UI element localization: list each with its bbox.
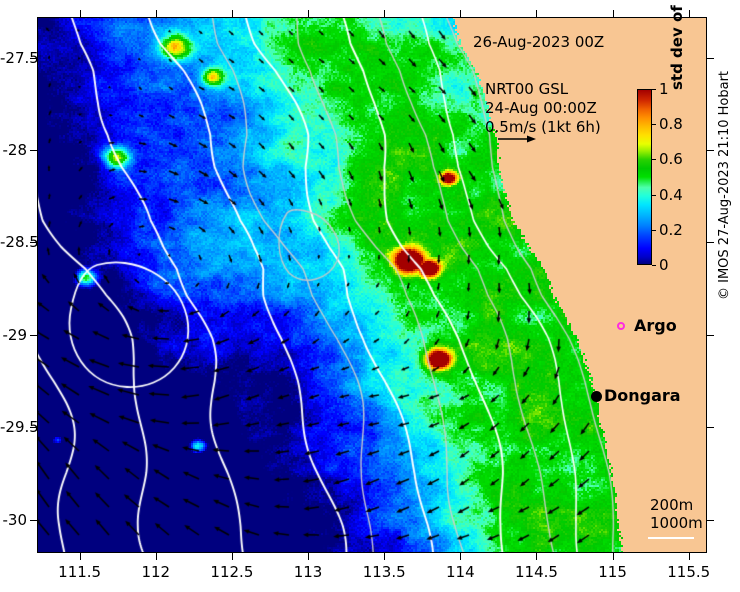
- x-tick-top: [536, 10, 537, 17]
- x-tick-top: [613, 10, 614, 17]
- x-tick: [384, 553, 385, 560]
- colorbar-tick-label: 0.6: [659, 150, 683, 168]
- y-tick: [30, 335, 37, 336]
- colorbar-tick: [652, 265, 656, 266]
- depth-contour-legend: 200m 1000m: [650, 496, 703, 532]
- dongara-marker-icon: [591, 391, 602, 402]
- x-tick: [80, 553, 81, 560]
- x-tick: [460, 553, 461, 560]
- x-tick-top: [384, 10, 385, 17]
- y-tick-label: -29.5: [0, 418, 27, 436]
- vector-legend-line1: NRT00 GSL: [485, 80, 601, 99]
- depth-legend-200m: 200m: [650, 496, 703, 514]
- colorbar-tick: [652, 195, 656, 196]
- depth-legend-contour-sample: [648, 537, 694, 539]
- colorbar-tick: [652, 159, 656, 160]
- colorbar-gradient: [637, 89, 652, 265]
- x-tick-top: [80, 10, 81, 17]
- colorbar-tick-label: 0: [659, 256, 669, 274]
- x-tick-top: [232, 10, 233, 17]
- x-tick: [308, 553, 309, 560]
- credit-text: © IMOS 27-Aug-2023 21:10 Hobart: [717, 71, 732, 300]
- argo-marker-icon: [617, 322, 625, 330]
- y-tick-label: -30: [0, 511, 27, 529]
- reference-vector-arrow-icon: [498, 133, 538, 145]
- x-tick: [689, 553, 690, 560]
- map-plot-area: [37, 17, 707, 553]
- date-stamp: 26-Aug-2023 00Z: [473, 33, 604, 51]
- y-tick: [30, 150, 37, 151]
- y-tick-label: -28.5: [0, 233, 27, 251]
- depth-legend-1000m: 1000m: [650, 514, 703, 532]
- x-tick-label: 115.5: [667, 563, 710, 581]
- vector-legend-line2: 24-Aug 00:00Z: [485, 99, 601, 118]
- x-tick-top: [156, 10, 157, 17]
- x-tick: [536, 553, 537, 560]
- colorbar-tick: [652, 230, 656, 231]
- dongara-label: Dongara: [604, 386, 681, 405]
- x-tick: [156, 553, 157, 560]
- x-tick-label: 114: [446, 563, 475, 581]
- y-tick-right: [707, 427, 714, 428]
- y-tick-label: -28: [0, 141, 27, 159]
- colorbar-tick: [652, 124, 656, 125]
- y-tick-right: [707, 150, 714, 151]
- y-tick-label: -27.5: [0, 49, 27, 67]
- x-tick: [613, 553, 614, 560]
- x-tick-top: [689, 10, 690, 17]
- colorbar-tick-label: 0.4: [659, 186, 683, 204]
- colorbar-tick-label: 0.2: [659, 221, 683, 239]
- x-tick: [232, 553, 233, 560]
- y-tick-label: -29: [0, 326, 27, 344]
- x-tick-label: 111.5: [58, 563, 101, 581]
- x-tick-label: 115: [598, 563, 627, 581]
- x-tick-label: 114.5: [515, 563, 558, 581]
- colorbar-title: std dev of 4hr SST comp: [668, 0, 686, 90]
- colorbar-tick-label: 0.8: [659, 115, 683, 133]
- colorbar-tick: [652, 89, 656, 90]
- contour-and-vector-overlay: [37, 17, 707, 553]
- x-tick-top: [460, 10, 461, 17]
- vector-legend: NRT00 GSL 24-Aug 00:00Z 0.5m/s (1kt 6h): [485, 80, 601, 137]
- y-tick-right: [707, 58, 714, 59]
- colorbar: 00.20.40.60.81: [637, 89, 652, 265]
- x-tick-top: [308, 10, 309, 17]
- y-tick-right: [707, 520, 714, 521]
- x-tick-label: 113: [294, 563, 323, 581]
- x-tick-label: 112: [141, 563, 170, 581]
- y-tick: [30, 520, 37, 521]
- argo-label: Argo: [634, 316, 677, 335]
- y-tick-right: [707, 242, 714, 243]
- y-tick-right: [707, 335, 714, 336]
- x-tick-label: 112.5: [210, 563, 253, 581]
- x-tick-label: 113.5: [363, 563, 406, 581]
